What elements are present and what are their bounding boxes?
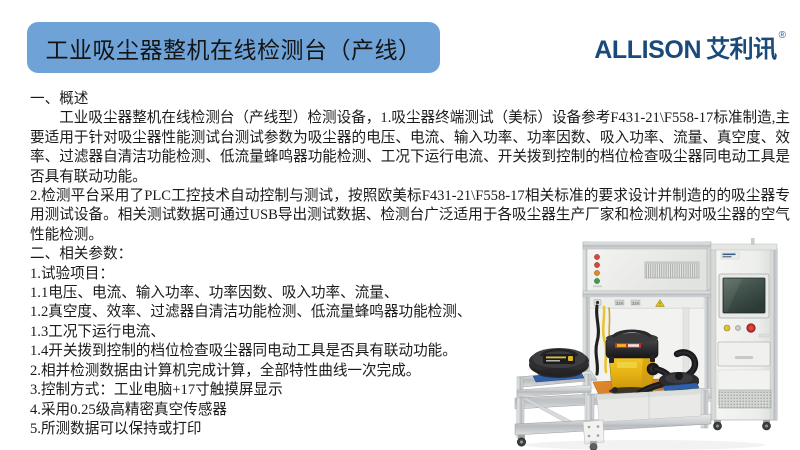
overview-paragraph-2: 2.检测平台采用了PLC工控技术自动控制与测试，按照欧美标F431-21\F55… bbox=[30, 187, 790, 245]
brand-logo: ALLISON 艾利讯 ® bbox=[594, 38, 786, 63]
param-item: 1.4开关拨到控制的档位检查吸尘器同电动工具是否具有联动功能。 bbox=[30, 342, 520, 361]
param-item: 1.3工况下运行电流、 bbox=[30, 323, 520, 342]
slide-title-banner: 工业吸尘器整机在线检测台（产线） bbox=[27, 22, 440, 73]
control-button-grey bbox=[735, 325, 740, 330]
registered-trademark-icon: ® bbox=[779, 31, 786, 41]
param-item: 1.试验项目： bbox=[30, 265, 520, 284]
vent-grille bbox=[645, 262, 699, 278]
overview-paragraph-1: 工业吸尘器整机在线检测台（产线型）检测设备，1.吸尘器终端测试（美标）设备参考F… bbox=[30, 109, 790, 187]
param-item: 1.1电压、电流、输入功率、功率因数、吸入功率、流量、 bbox=[30, 284, 520, 303]
svg-text:220: 220 bbox=[632, 301, 640, 305]
control-button-yellow bbox=[724, 325, 730, 331]
param-item: 5.所测数据可以保持或打印 bbox=[30, 420, 520, 439]
indicator-lamp-green bbox=[594, 278, 599, 283]
param-item: 1.2真空度、效率、过滤器自清洁功能检测、低流量蜂鸣器功能检测、 bbox=[30, 303, 520, 322]
perforated-vent-panel bbox=[719, 390, 771, 408]
logo-chinese-text: 艾利讯 bbox=[706, 38, 777, 62]
cabinet-access-panel bbox=[718, 342, 770, 366]
indicator-lamp-red-1 bbox=[594, 254, 599, 259]
svg-text:!: ! bbox=[659, 302, 661, 308]
page-title: 工业吸尘器整机在线检测台（产线） bbox=[46, 31, 422, 65]
cabinet-nameplate bbox=[721, 252, 739, 259]
panel-handle bbox=[735, 356, 753, 359]
section-one-heading: 一、概述 bbox=[30, 90, 790, 109]
indicator-lamp-amber bbox=[594, 270, 599, 275]
param-item: 2.相并检测数据由计算机完成计算，全部特性曲线一次完成。 bbox=[30, 362, 520, 381]
product-photo: 220 220 ! bbox=[505, 238, 800, 450]
indicator-lamp-red-2 bbox=[594, 262, 599, 267]
section-two-heading: 二、相关参数： bbox=[30, 245, 520, 264]
svg-text:220: 220 bbox=[616, 301, 624, 305]
cable-harness bbox=[596, 306, 598, 374]
param-item: 4.采用0.25级高精密真空传感器 bbox=[30, 401, 520, 420]
param-item: 3.控制方式：工业电脑+17寸触摸屏显示 bbox=[30, 381, 520, 400]
exhaust-pipe bbox=[751, 238, 755, 245]
logo-latin-text: ALLISON bbox=[594, 38, 701, 63]
